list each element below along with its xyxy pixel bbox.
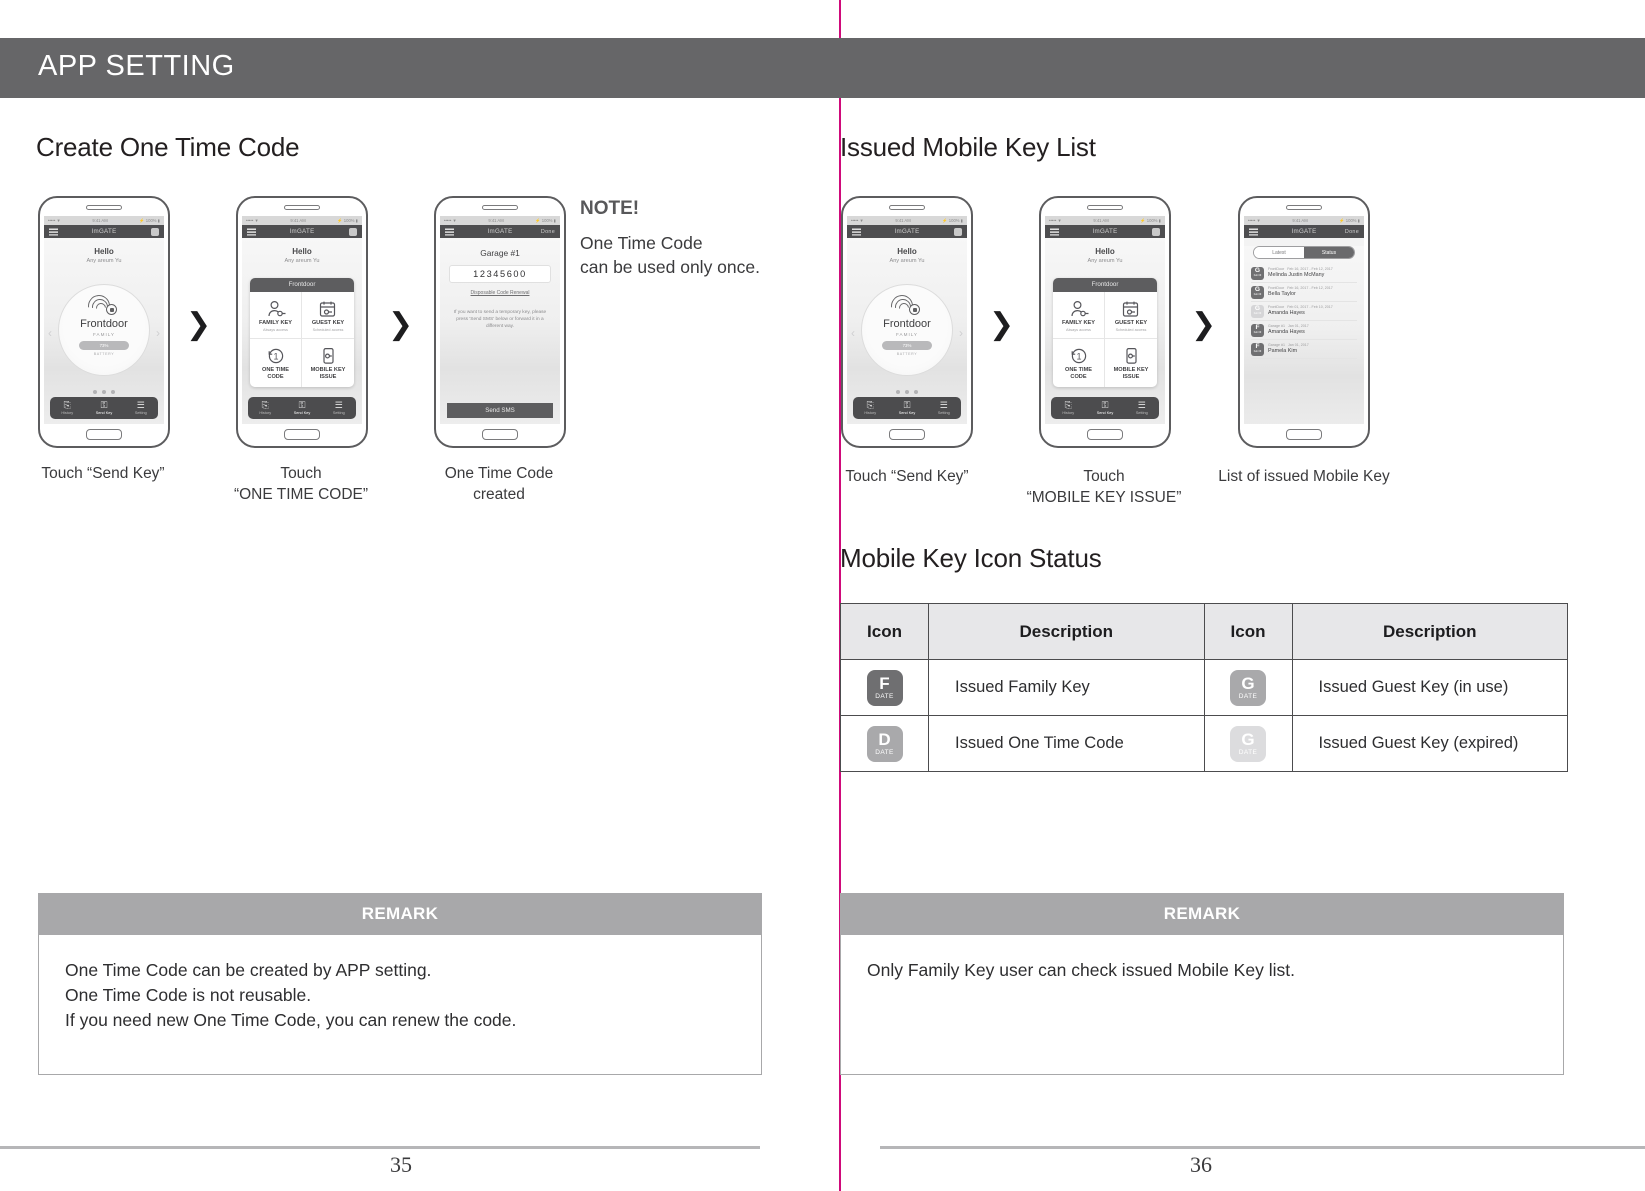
menu-icon[interactable] [1249,228,1258,235]
remark-right-line-1: Only Family Key user can check issued Mo… [867,958,1537,983]
caption-right-step3: List of issued Mobile Key [1184,466,1424,487]
code-body: Garage #1 12345600 Disposable Code Renew… [440,238,560,424]
app-title: ImGATE [894,228,919,235]
phone-mock-home-left: ••••• ▼ 9:41 AM ⚡ 100% ▮ ImGATE Hello An… [38,196,170,448]
note-line-1: One Time Code [580,231,830,255]
key-menu-card: Frontdoor FAMILY KEY Always access [250,278,354,387]
cell-icon-one-time-code: D DATE [841,716,929,772]
key-badge-date: Feb 09 [1254,332,1261,334]
phone-screen: ••••• ▼ 9:41 AM ⚡ 100% ▮ ImGATE Hello An… [1045,216,1165,424]
door-dial[interactable]: Frontdoor FAMILY 73% BATTERY [861,284,953,376]
list-item-place: FrontDoor [1268,267,1284,271]
page-number-right: 36 [1190,1152,1212,1178]
app-nav-bar: ImGATE Done [1244,225,1364,238]
page-dots[interactable] [896,390,918,394]
table-row: F DATE Issued Family Key G DATE Issued G… [841,660,1568,716]
key-icon: ⚿ [1102,401,1109,410]
list-item-name: Bella Taylor [1268,291,1333,297]
list-item-name: Amanda Hayes [1268,310,1333,316]
menu-icon[interactable] [1050,228,1059,235]
done-button[interactable]: Done [1345,229,1359,235]
chevron-left-icon[interactable]: ‹ [48,326,52,340]
status-signal: ••••• ▼ [1049,218,1062,223]
tab-history-label: History [259,411,271,415]
step-arrow-icon: ❯ [1191,310,1216,340]
table-header-row: Icon Description Icon Description [841,604,1568,660]
tab-history-label: History [61,411,73,415]
greeting-subtitle: Any areum Yu [847,258,967,264]
menu-item-one-time-code[interactable]: 1 ONE TIME CODE [1053,339,1105,387]
menu-item-mobile-key-issue[interactable]: MOBILE KEY ISSUE [1105,339,1157,387]
app-title: ImGATE [1291,228,1316,235]
key-menu-card-title: Frontdoor [250,278,354,292]
phone-mock-keylist-right: ••••• ▼ 9:41 AM ⚡ 100% ▮ ImGATE Done Lat… [1238,196,1370,448]
tab-history[interactable]: ⎘ History [61,401,73,415]
th-description-left: Description [929,604,1205,660]
menu-icon[interactable] [49,228,58,235]
list-item-place: FrontDoor [1268,305,1284,309]
caption-right-step2-line2: “MOBILE KEY ISSUE” [984,487,1224,508]
send-sms-button[interactable]: Send SMS [447,403,553,418]
setting-icon: ☰ [940,401,948,410]
app-nav-bar: ImGATE [242,225,362,238]
tab-setting[interactable]: ☰ Setting [1136,401,1148,415]
phone-home-button[interactable] [1087,429,1123,440]
remark-box-left: REMARK One Time Code can be created by A… [38,893,762,1075]
list-item-period: Feb 16, 2017 - Feb 12, 2017 [1287,267,1333,271]
status-time: 9:41 AM [290,218,305,223]
family-key-badge-icon: F DATE [867,670,903,706]
key-menu-card-title: Frontdoor [1053,278,1157,292]
mobile-key-icon [304,346,352,366]
calendar-key-icon [304,299,352,319]
remark-left-line-3: If you need new One Time Code, you can r… [65,1008,735,1033]
list-item-period: Jan 01, 2017 [1288,343,1309,347]
badge-date-label: DATE [1239,694,1257,701]
list-item-name: Pamela Kim [1268,348,1309,354]
menu-item-family-key[interactable]: FAMILY KEY Always access [250,292,302,339]
home-body: Hello Any areum Yu ‹ › Frontdoor FAMILY … [847,238,967,424]
phone-home-button[interactable] [482,429,518,440]
step-arrow-icon: ❯ [186,310,211,340]
tab-setting[interactable]: ☰ Setting [333,401,345,415]
gear-icon[interactable] [349,228,357,236]
history-icon: ⎘ [64,401,71,410]
history-icon: ⎘ [262,401,269,410]
cell-desc-guest-key-in-use: Issued Guest Key (in use) [1292,660,1568,716]
tab-setting[interactable]: ☰ Setting [938,401,950,415]
status-time: 9:41 AM [488,218,503,223]
key-icon: ⚿ [101,401,108,410]
phone-mock-home-right: ••••• ▼ 9:41 AM ⚡ 100% ▮ ImGATE Hello An… [841,196,973,448]
list-item-text: FrontDoor Feb 16, 2017 - Feb 12, 2017 Be… [1268,286,1333,297]
svg-text:1: 1 [273,351,278,361]
menu-item-guest-key[interactable]: GUEST KEY Scheduled access [1105,292,1157,339]
key-badge-icon: G Feb 09 [1251,286,1264,299]
cell-desc-one-time-code: Issued One Time Code [929,716,1205,772]
app-title: ImGATE [289,228,314,235]
calendar-key-icon [1107,299,1155,319]
list-item-place: FrontDoor [1268,286,1284,290]
tab-send-key[interactable]: ⚿ Send Key [96,401,112,415]
th-description-right: Description [1292,604,1568,660]
phone-speaker-notch [1087,205,1123,210]
status-time: 9:41 AM [92,218,107,223]
status-battery: ⚡ 100% ▮ [942,218,963,224]
key-badge-icon: F Feb 09 [1251,343,1264,356]
key-badge-icon: G Feb 09 [1251,305,1264,318]
bottom-tab-bar[interactable]: ⎘ History ⚿ Send Key ☰ Setting [50,397,158,419]
tab-setting[interactable]: ☰ Setting [135,401,147,415]
step-arrow-icon: ❯ [388,310,413,340]
svg-text:1: 1 [1076,351,1081,361]
chevron-right-icon[interactable]: › [156,326,160,340]
section-title-mobile-key-icon-status: Mobile Key Icon Status [840,543,1102,574]
gear-icon[interactable] [954,228,962,236]
list-item-text: FrontDoor Feb 16, 2017 - Feb 12, 2017 Me… [1268,267,1333,278]
menu-item-mobile-key-issue-title: MOBILE KEY ISSUE [1107,367,1155,381]
phone-home-button[interactable] [86,429,122,440]
menu-item-family-key-subtitle: Always access [252,328,299,332]
app-nav-bar: ImGATE [1045,225,1165,238]
status-time: 9:41 AM [1292,218,1307,223]
section-title-issued-mobile-key-list: Issued Mobile Key List [840,132,1096,163]
done-button[interactable]: Done [541,229,555,235]
phone-screen: ••••• ▼ 9:41 AM ⚡ 100% ▮ ImGATE Hello An… [242,216,362,424]
home-body: Hello Any areum Yu ‹ › Frontdoor FAMILY … [44,238,164,424]
badge-letter: F [879,675,889,692]
caption-left-step3-line2: created [379,484,619,505]
caption-left-step3-line1: One Time Code [379,463,619,484]
door-dial[interactable]: Frontdoor FAMILY 73% BATTERY [58,284,150,376]
battery-bar: 73% [882,341,932,350]
cell-icon-family-key: F DATE [841,660,929,716]
list-item[interactable]: G Feb 09 FrontDoor Feb 01, 2017 - Feb 10… [1251,302,1357,321]
status-bar: ••••• ▼ 9:41 AM ⚡ 100% ▮ [847,216,967,225]
remark-box-right: REMARK Only Family Key user can check is… [840,893,1564,1075]
tab-send-key[interactable]: ⚿ Send Key [294,401,310,415]
phone-home-button[interactable] [284,429,320,440]
menu-item-mobile-key-issue[interactable]: MOBILE KEY ISSUE [302,339,354,387]
status-bar: ••••• ▼ 9:41 AM ⚡ 100% ▮ [1244,216,1364,225]
list-item[interactable]: G Feb 09 FrontDoor Feb 16, 2017 - Feb 12… [1251,283,1357,302]
tab-setting-label: Setting [1136,411,1148,415]
phone-mock-keymenu-left: ••••• ▼ 9:41 AM ⚡ 100% ▮ ImGATE Hello An… [236,196,368,448]
list-item-place: Garage #1 [1268,324,1285,328]
status-time: 9:41 AM [895,218,910,223]
door-role: FAMILY [896,332,918,337]
list-item-text: FrontDoor Feb 01, 2017 - Feb 10, 2017 Am… [1268,305,1333,316]
list-item-place: Garage #1 [1268,343,1285,347]
key-badge-date: Feb 09 [1254,294,1261,296]
phone-speaker-notch [1286,205,1322,210]
wireless-lock-icon [91,298,117,315]
th-icon-left: Icon [841,604,929,660]
one-time-code-badge-icon: D DATE [867,726,903,762]
key-icon: ⚿ [299,401,306,410]
list-item-period: Jan 01, 2017 [1288,324,1309,328]
menu-item-family-key-title: FAMILY KEY [1055,320,1102,327]
tab-setting-label: Setting [333,411,345,415]
list-item-name: Amanda Hayes [1268,329,1309,335]
issued-key-list: G Feb 09 FrontDoor Feb 16, 2017 - Feb 12… [1251,264,1357,359]
battery-bar: 73% [79,341,129,350]
remark-left-line-2: One Time Code is not reusable. [65,983,735,1008]
key-badge-date: Feb 09 [1254,275,1261,277]
remark-left-body: One Time Code can be created by APP sett… [38,935,762,1075]
greeting: Hello [44,238,164,256]
status-signal: ••••• ▼ [246,218,259,223]
tab-history[interactable]: ⎘ History [259,401,271,415]
greeting-subtitle: Any areum Yu [1045,258,1165,264]
phone-screen: ••••• ▼ 9:41 AM ⚡ 100% ▮ ImGATE Hello An… [847,216,967,424]
tab-setting-label: Setting [938,411,950,415]
wireless-lock-icon [894,298,920,315]
code-door-title: Garage #1 [440,238,560,258]
app-nav-bar: ImGATE Done [440,225,560,238]
list-item[interactable]: F Feb 09 Garage #1 Jan 01, 2017 Amanda H… [1251,321,1357,340]
phone-screen: ••••• ▼ 9:41 AM ⚡ 100% ▮ ImGATE Hello An… [44,216,164,424]
setting-icon: ☰ [1138,401,1146,410]
person-key-icon [1055,299,1102,319]
step-arrow-icon: ❯ [989,310,1014,340]
tab-send-key-label: Send Key [1097,411,1113,415]
door-name: Frontdoor [80,318,128,330]
phone-speaker-notch [86,205,122,210]
chevron-right-icon[interactable]: › [959,326,963,340]
menu-item-family-key[interactable]: FAMILY KEY Always access [1053,292,1105,339]
setting-icon: ☰ [137,401,145,410]
footer-rule-right [880,1146,1645,1149]
code-description: If you want to send a temporary key, ple… [449,309,551,330]
phone-screen: ••••• ▼ 9:41 AM ⚡ 100% ▮ ImGATE Done Lat… [1244,216,1364,424]
status-bar: ••••• ▼ 9:41 AM ⚡ 100% ▮ [440,216,560,225]
list-item-name: Melinda Justin McMany [1268,272,1333,278]
key-badge-icon: F Feb 09 [1251,324,1264,337]
note-title: NOTE! [580,198,639,220]
remark-right-title: REMARK [840,893,1564,935]
list-item-text: Garage #1 Jan 01, 2017 Amanda Hayes [1268,324,1309,335]
keymenu-body: Hello Any areum Yu Frontdoor FAMILY KEY … [1045,238,1165,424]
guest-key-expired-badge-icon: G DATE [1230,726,1266,762]
status-signal: ••••• ▼ [444,218,457,223]
tab-send-key-label: Send Key [899,411,915,415]
manual-page-spread: APP SETTING Create One Time Code ••••• ▼… [0,0,1645,1191]
tab-send-key[interactable]: ⚿ Send Key [1097,401,1113,415]
history-icon: ⎘ [1065,401,1072,410]
phone-mock-keymenu-right: ••••• ▼ 9:41 AM ⚡ 100% ▮ ImGATE Hello An… [1039,196,1171,448]
phone-speaker-notch [284,205,320,210]
chapter-title: APP SETTING [38,50,235,83]
phone-speaker-notch [889,205,925,210]
table-row: D DATE Issued One Time Code G DATE Issue… [841,716,1568,772]
tab-history[interactable]: ⎘ History [1062,401,1074,415]
greeting: Hello [242,238,362,256]
greeting-subtitle: Any areum Yu [44,258,164,264]
guest-key-in-use-badge-icon: G DATE [1230,670,1266,706]
code-renewal-link[interactable]: Disposable Code Renewal [440,290,560,296]
th-icon-right: Icon [1204,604,1292,660]
tab-send-key-label: Send Key [294,411,310,415]
keylist-body: Latest Status G Feb 09 FrontDoor Feb 16,… [1244,246,1364,424]
badge-letter: D [878,731,890,748]
status-bar: ••••• ▼ 9:41 AM ⚡ 100% ▮ [1045,216,1165,225]
caption-left-step3: One Time Code created [379,463,619,505]
status-bar: ••••• ▼ 9:41 AM ⚡ 100% ▮ [44,216,164,225]
phone-mock-code-left: ••••• ▼ 9:41 AM ⚡ 100% ▮ ImGATE Done Gar… [434,196,566,448]
phone-screen: ••••• ▼ 9:41 AM ⚡ 100% ▮ ImGATE Done Gar… [440,216,560,424]
list-item-text: Garage #1 Jan 01, 2017 Pamela Kim [1268,343,1309,354]
list-item-period: Feb 16, 2017 - Feb 12, 2017 [1287,286,1333,290]
badge-letter: G [1241,731,1254,748]
gear-icon[interactable] [151,228,159,236]
list-item-period: Feb 01, 2017 - Feb 10, 2017 [1287,305,1333,309]
battery-bar-label: BATTERY [94,352,114,356]
chapter-header-band [0,38,1645,98]
page-dots[interactable] [93,390,115,394]
status-signal: ••••• ▼ [48,218,61,223]
bottom-tab-bar[interactable]: ⎘ History ⚿ Send Key ☰ Setting [853,397,961,419]
one-time-code-value: 12345600 [449,265,551,283]
status-battery: ⚡ 100% ▮ [1140,218,1161,224]
menu-icon[interactable] [852,228,861,235]
one-time-icon: 1 [252,346,299,366]
greeting-subtitle: Any areum Yu [242,258,362,264]
app-title: ImGATE [487,228,512,235]
chevron-left-icon[interactable]: ‹ [851,326,855,340]
bottom-tab-bar[interactable]: ⎘ History ⚿ Send Key ☰ Setting [1051,397,1159,419]
phone-home-button[interactable] [889,429,925,440]
section-title-create-one-time-code: Create One Time Code [36,132,299,163]
door-name: Frontdoor [883,318,931,330]
tab-history-label: History [864,411,876,415]
tab-history-label: History [1062,411,1074,415]
gear-icon[interactable] [1152,228,1160,236]
app-nav-bar: ImGATE [847,225,967,238]
keymenu-body: Hello Any areum Yu Frontdoor FAMILY KEY … [242,238,362,424]
menu-icon[interactable] [247,228,256,235]
cell-icon-guest-key-in-use: G DATE [1204,660,1292,716]
note-line-2: can be used only once. [580,255,830,279]
menu-item-one-time-code[interactable]: 1 ONE TIME CODE [250,339,302,387]
remark-right-body: Only Family Key user can check issued Mo… [840,935,1564,1075]
status-battery: ⚡ 100% ▮ [1339,218,1360,224]
greeting: Hello [1045,238,1165,256]
status-battery: ⚡ 100% ▮ [535,218,556,224]
menu-item-mobile-key-issue-title: MOBILE KEY ISSUE [304,367,352,381]
segment-latest[interactable]: Latest [1254,247,1304,258]
setting-icon: ☰ [335,401,343,410]
segment-status[interactable]: Status [1304,247,1354,258]
tab-send-key-label: Send Key [96,411,112,415]
list-item[interactable]: G Feb 09 FrontDoor Feb 16, 2017 - Feb 12… [1251,264,1357,283]
list-segmented-control[interactable]: Latest Status [1253,246,1355,259]
status-signal: ••••• ▼ [1248,218,1261,223]
menu-item-guest-key-title: GUEST KEY [304,320,352,327]
key-badge-date: Feb 09 [1254,351,1261,353]
footer-rule-left [0,1146,760,1149]
phone-home-button[interactable] [1286,429,1322,440]
status-battery: ⚡ 100% ▮ [139,218,160,224]
status-time: 9:41 AM [1093,218,1108,223]
remark-left-line-1: One Time Code can be created by APP sett… [65,958,735,983]
cell-desc-family-key: Issued Family Key [929,660,1205,716]
bottom-tab-bar[interactable]: ⎘ History ⚿ Send Key ☰ Setting [248,397,356,419]
list-item[interactable]: F Feb 09 Garage #1 Jan 01, 2017 Pamela K… [1251,340,1357,359]
app-nav-bar: ImGATE [44,225,164,238]
menu-item-family-key-title: FAMILY KEY [252,320,299,327]
badge-date-label: DATE [875,694,893,701]
battery-bar-label: BATTERY [897,352,917,356]
key-icon: ⚿ [904,401,911,410]
mobile-key-icon [1107,346,1155,366]
phone-speaker-notch [482,205,518,210]
status-battery: ⚡ 100% ▮ [337,218,358,224]
person-key-icon [252,299,299,319]
menu-icon[interactable] [445,228,454,235]
key-badge-icon: G Feb 09 [1251,267,1264,280]
menu-item-guest-key-title: GUEST KEY [1107,320,1155,327]
menu-item-one-time-code-title: ONE TIME CODE [1055,367,1102,381]
menu-item-guest-key[interactable]: GUEST KEY Scheduled access [302,292,354,339]
menu-item-one-time-code-title: ONE TIME CODE [252,367,299,381]
history-icon: ⎘ [867,401,874,410]
menu-item-guest-key-subtitle: Scheduled access [304,328,352,332]
one-time-icon: 1 [1055,346,1102,366]
note-body: One Time Code can be used only once. [580,231,830,279]
badge-letter: G [1241,675,1254,692]
icon-status-table: Icon Description Icon Description F DATE… [840,603,1568,772]
tab-setting-label: Setting [135,411,147,415]
cell-icon-guest-key-expired: G DATE [1204,716,1292,772]
door-role: FAMILY [93,332,115,337]
badge-date-label: DATE [875,750,893,757]
menu-item-guest-key-subtitle: Scheduled access [1107,328,1155,332]
tab-send-key[interactable]: ⚿ Send Key [899,401,915,415]
app-title: ImGATE [91,228,116,235]
status-bar: ••••• ▼ 9:41 AM ⚡ 100% ▮ [242,216,362,225]
key-menu-card: Frontdoor FAMILY KEY Always access [1053,278,1157,387]
key-menu-grid: FAMILY KEY Always access GUEST KEY Sched… [1053,292,1157,387]
greeting: Hello [847,238,967,256]
key-menu-grid: FAMILY KEY Always access GUEST KEY Sched… [250,292,354,387]
key-badge-date: Feb 09 [1254,313,1261,315]
badge-date-label: DATE [1239,750,1257,757]
menu-item-family-key-subtitle: Always access [1055,328,1102,332]
status-signal: ••••• ▼ [851,218,864,223]
cell-desc-guest-key-expired: Issued Guest Key (expired) [1292,716,1568,772]
tab-history[interactable]: ⎘ History [864,401,876,415]
page-number-left: 35 [390,1152,412,1178]
app-title: ImGATE [1092,228,1117,235]
remark-left-title: REMARK [38,893,762,935]
